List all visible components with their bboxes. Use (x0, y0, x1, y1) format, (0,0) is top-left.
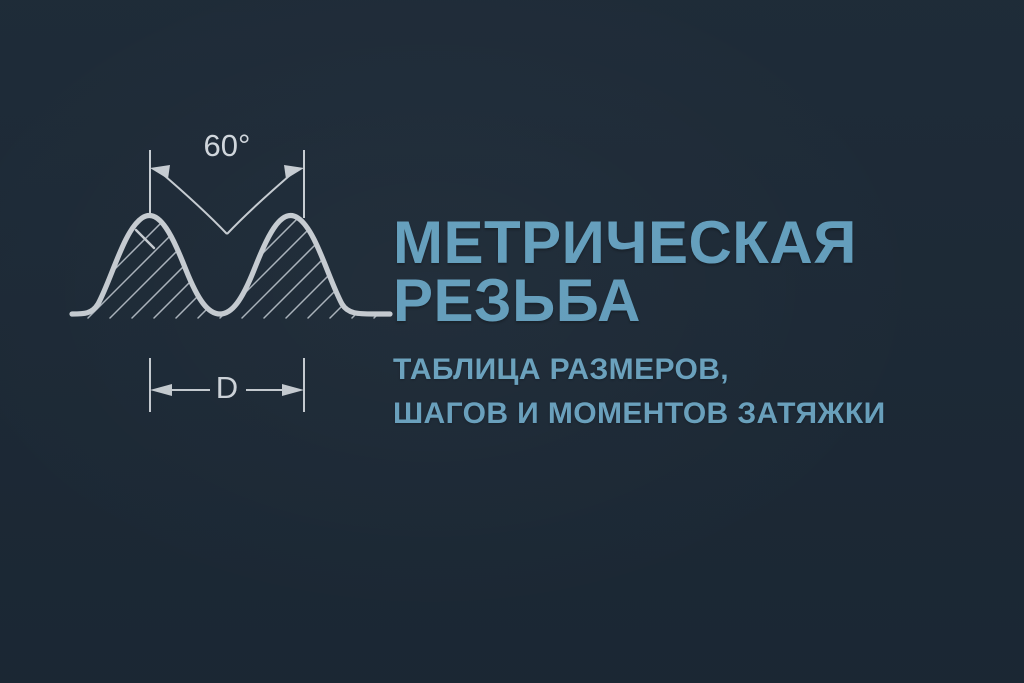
page-subtitle-line-1: ТАБЛИЦА РАЗМЕРОВ, (393, 348, 993, 392)
angle-arc-left (158, 170, 227, 234)
poster-text-block: МЕТРИЧЕСКАЯ РЕЗЬБА ТАБЛИЦА РАЗМЕРОВ, ШАГ… (393, 214, 993, 435)
page-title-line-1: МЕТРИЧЕСКАЯ (393, 214, 993, 272)
page-subtitle: ТАБЛИЦА РАЗМЕРОВ, ШАГОВ И МОМЕНТОВ ЗАТЯЖ… (393, 348, 993, 435)
poster-canvas: 60° D МЕТРИЧЕСКАЯ РЕЗЬБА ТАБЛИЦА РАЗМЕРО… (0, 0, 1024, 683)
thread-profile-svg: 60° D (58, 118, 408, 428)
angle-arc-right (227, 170, 296, 234)
angle-arrowhead-right (284, 165, 304, 179)
angle-label: 60° (204, 128, 251, 163)
diameter-arrowhead-right (282, 384, 304, 396)
page-title-line-2: РЕЗЬБА (393, 272, 993, 330)
angle-arrowhead-left (150, 165, 170, 179)
thread-profile-diagram: 60° D (58, 118, 408, 428)
diameter-label: D (216, 370, 238, 405)
page-subtitle-line-2: ШАГОВ И МОМЕНТОВ ЗАТЯЖКИ (393, 392, 993, 436)
diameter-arrowhead-left (150, 384, 172, 396)
